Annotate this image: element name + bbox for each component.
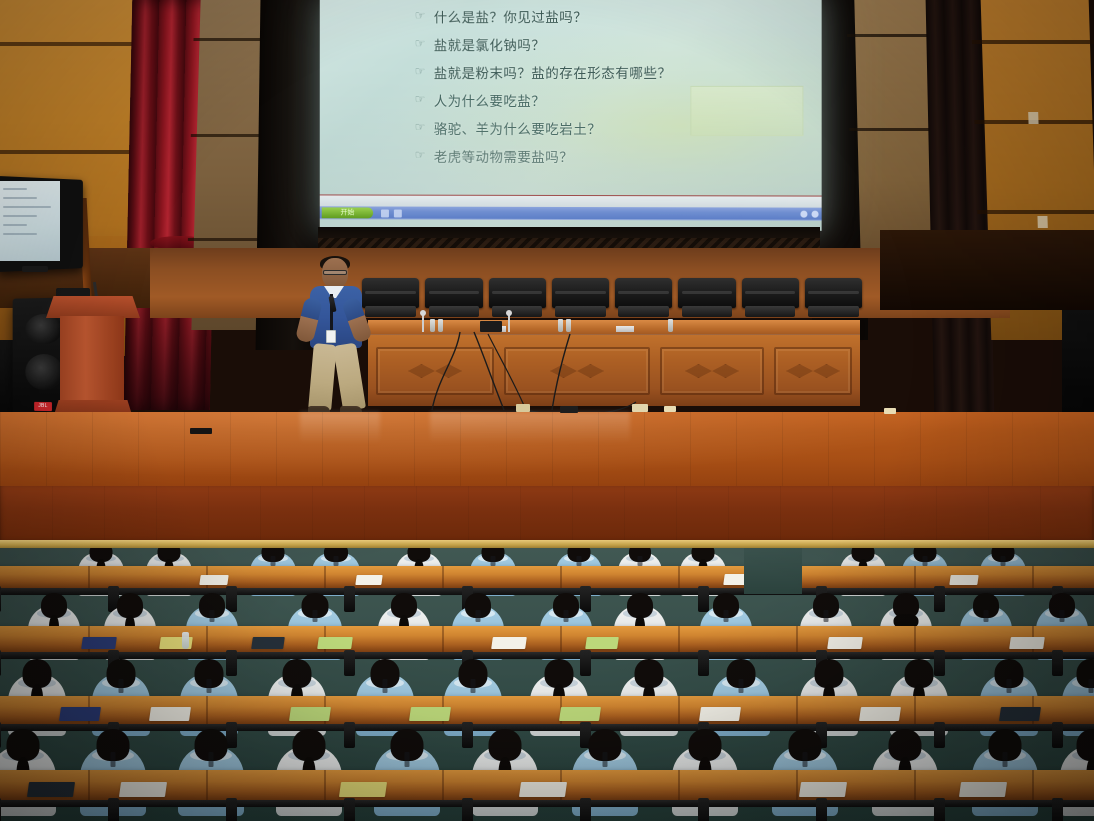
seat-bracket [1052,798,1063,821]
slide-bullet-line-5: ☞ 骆驼、羊为什么要吃岩土？ [415,118,810,138]
lectern-top [46,296,140,318]
slide-line-text: 骆驼、羊为什么要吃岩土？ [434,118,601,138]
slide-line-text: 盐就是氯化钠吗？ [434,34,545,54]
pointing-hand-icon: ☞ [415,148,426,162]
floor-tape [664,406,676,412]
network-icon[interactable] [800,211,807,218]
worksheet [491,637,527,649]
floor-cable-box [516,404,530,412]
slide-bullet-line-1: ☞ 什么是盐？你见过盐吗？ [415,5,810,26]
slide-line-text: 什么是盐？你见过盐吗？ [434,6,587,26]
slide-content: ☞ 什么是盐？你见过盐吗？ ☞ 盐就是氯化钠吗？ ☞ 盐就是粉末吗？盐的存在形态… [415,5,810,174]
worksheet [409,707,451,721]
seat-bracket [344,650,355,676]
student-collar-tie [603,752,608,767]
student-collar-tie [383,679,388,693]
student-collar-tie [1003,752,1008,767]
quick-launch-bar[interactable] [381,209,402,217]
water-bottle [430,319,435,332]
glasses-icon [323,270,347,275]
seat-bracket [226,722,237,748]
worksheet [559,707,601,721]
seat-bracket [344,722,355,748]
student-collar-tie [119,679,124,693]
student-collar-tie [803,752,808,767]
student-collar-tie [1001,556,1006,566]
floor-connector [560,406,578,413]
worksheet [959,782,1007,797]
browser-icon[interactable] [381,209,389,217]
notebook [27,782,75,797]
start-button[interactable]: 开始 [322,207,373,218]
id-badge [326,330,336,343]
student-collar-tie [1007,679,1012,693]
worksheet [339,782,387,797]
seat-rail [0,724,1094,731]
seat-bracket [0,650,1,676]
student-collar-tie [739,679,744,693]
slide-bullet-line-4: ☞ 人为什么要吃盐？ [415,90,810,110]
student-collar-tie [577,556,582,566]
seat-bracket [0,722,1,748]
worksheet [355,575,382,585]
worksheet [859,707,901,721]
notebook [999,707,1041,721]
water-bottle [566,319,571,332]
presenter-legs [310,344,364,416]
presenter [296,258,382,428]
folder-icon[interactable] [394,209,402,217]
stage-area: ☞ 什么是盐？你见过盐吗？ ☞ 盐就是氯化钠吗？ ☞ 盐就是粉末吗？盐的存在形态… [0,0,1094,556]
student-collar-tie [491,556,496,566]
seat-bracket [1052,650,1063,676]
seat-bracket [934,722,945,748]
seat-bracket [344,798,355,821]
seat-bracket [462,798,473,821]
student-collar-tie [476,610,481,622]
back-wall-right-shadow [880,230,1094,310]
worksheet [799,782,847,797]
monitor-stand [22,266,48,272]
pointing-hand-icon: ☞ [415,120,426,134]
table-items [368,310,860,332]
student-collar-tie [334,556,339,566]
worksheet [699,707,741,721]
student-collar-tie [313,610,318,622]
worksheet [1009,637,1045,649]
lectern [46,296,140,428]
table-laptop [480,321,502,332]
slide-line-text: 盐就是粉末吗？盐的存在形态有哪些？ [434,62,672,82]
slide-line-text: 老虎等动物需要盐吗？ [434,146,573,166]
student-collar-tie [209,752,214,767]
seat-bracket [698,650,709,676]
screen-valance [318,238,820,248]
seat-bracket [226,650,237,676]
table-microphone [422,314,424,332]
slide-bullet-line-2: ☞ 盐就是氯化钠吗？ [415,33,810,54]
seat-rail [0,800,1094,807]
notebook [251,637,285,649]
pointing-hand-icon: ☞ [415,64,426,78]
student-collar-tie [405,752,410,767]
student-audience [0,548,1094,821]
seat-bracket [0,798,1,821]
seat-bracket [934,650,945,676]
student-collar-tie [923,556,928,566]
seat-bracket [698,798,709,821]
worksheet [827,637,863,649]
seat-bracket [934,798,945,821]
student-collar-tie [564,610,569,622]
water-bottle [182,632,189,649]
student-collar-tie [271,556,276,566]
pointing-hand-icon: ☞ [415,8,426,22]
student-collar-tie [638,556,643,566]
water-bottle [438,319,443,332]
worksheet [289,707,331,721]
worksheet [59,707,101,721]
seat-bracket [462,722,473,748]
student-collar-tie [984,610,989,622]
table-microphone [508,314,510,332]
table-front [368,334,860,406]
stage-apron [0,486,1094,544]
student-collar-tie [210,610,215,622]
water-bottle [668,319,673,332]
worksheet [149,707,191,721]
seat-rail [0,588,1094,595]
volume-icon[interactable] [812,211,819,218]
seat-bracket [934,586,945,612]
slide-line-text: 人为什么要吃盐？ [434,90,545,110]
windows-taskbar[interactable]: 开始 [320,206,822,220]
water-bottle [558,319,563,332]
student-collar-tie [471,679,476,693]
confidence-monitor [0,178,88,270]
lectern-body [60,316,124,402]
panel-table [368,320,860,412]
seat-bracket [580,798,591,821]
student-collar-tie [111,752,116,767]
seat-bracket [0,586,1,612]
worksheet [317,637,353,649]
monitor-panel [0,181,60,261]
floor-remote [190,428,212,434]
system-tray[interactable] [800,211,818,218]
nameplate [616,326,634,332]
seat-bracket [108,798,119,821]
pointing-hand-icon: ☞ [415,36,426,50]
worksheet [199,575,228,585]
centre-aisle [744,548,802,594]
lecture-hall-screenshot: ☞ 什么是盐？你见过盐吗？ ☞ 盐就是氯化钠吗？ ☞ 盐就是粉末吗？盐的存在形态… [0,0,1094,821]
floor-tape [884,408,896,414]
seat-bracket [344,586,355,612]
slide-bullet-line-3: ☞ 盐就是粉末吗？盐的存在形态有哪些？ [415,62,810,82]
floor-tape [632,404,648,412]
seat-rail [0,652,1094,659]
seat-bracket [816,798,827,821]
student-collar-tie [1089,679,1094,693]
slide-bullet-line-6: ☞ 老虎等动物需要盐吗？ [415,146,810,166]
student-collar-tie [207,679,212,693]
student-collar-tie [824,610,829,622]
seat-bracket [580,650,591,676]
worksheet [519,782,567,797]
pointing-hand-icon: ☞ [415,92,426,106]
student-collar-tie [1060,610,1065,622]
student-collar-tie [724,610,729,622]
worksheet [81,637,117,649]
projection-screen: ☞ 什么是盐？你见过盐吗？ ☞ 盐就是氯化钠吗？ ☞ 盐就是粉末吗？盐的存在形态… [320,0,822,231]
worksheet [119,782,167,797]
seat-bracket [1052,722,1063,748]
seat-bracket [226,798,237,821]
worksheet [585,637,619,649]
student-desk [0,566,1094,588]
worksheet [949,575,978,585]
